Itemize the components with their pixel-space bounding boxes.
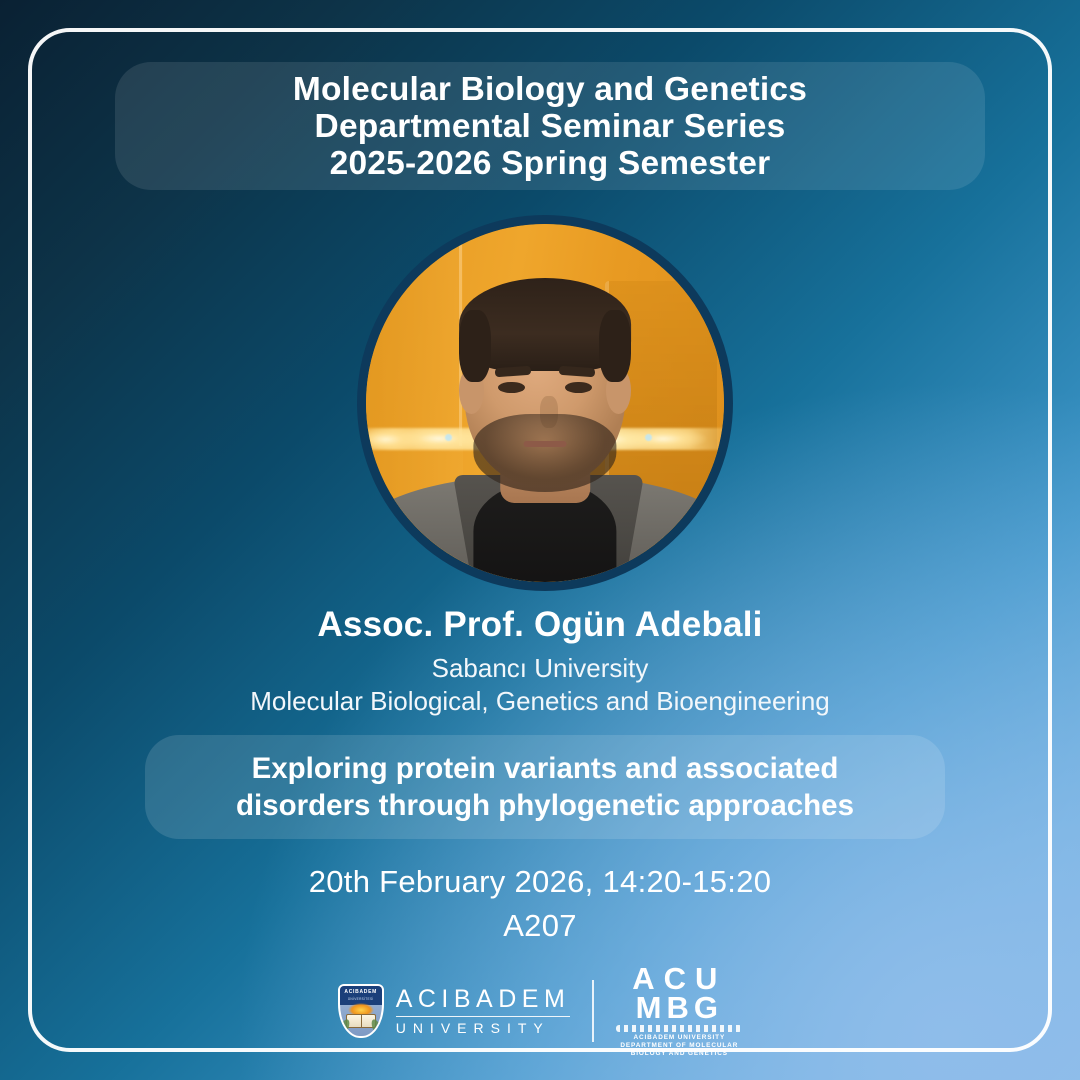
- talk-title-line-1: Exploring protein variants and associate…: [252, 750, 839, 787]
- logo-separator: [592, 980, 594, 1042]
- acibadem-crest-icon: ACIBADEM ÜNİVERSİTESİ: [338, 984, 384, 1038]
- acibadem-wordmark: ACIBADEM UNIVERSITY: [396, 986, 571, 1037]
- talk-title-line-2: disorders through phylogenetic approache…: [236, 787, 854, 824]
- portrait-photo: [366, 224, 724, 582]
- crest-subtitle: ÜNİVERSİTESİ: [340, 997, 382, 1001]
- talk-title-banner: Exploring protein variants and associate…: [145, 735, 945, 839]
- photo-light-dot: [445, 434, 452, 441]
- photo-beard: [473, 414, 616, 493]
- speaker-portrait: [357, 215, 733, 591]
- photo-eye-left: [498, 382, 525, 393]
- acibadem-divider-rule: [396, 1016, 571, 1018]
- shield-icon: ACIBADEM ÜNİVERSİTESİ: [338, 984, 384, 1038]
- schedule-block: 20th February 2026, 14:20-15:20 A207: [0, 860, 1080, 948]
- schedule-room: A207: [0, 904, 1080, 948]
- acu-mbg-logo: ACU MBG ACIBADEM UNIVERSITY DEPARTMENT O…: [616, 965, 742, 1058]
- speaker-affiliation-department: Molecular Biological, Genetics and Bioen…: [0, 685, 1080, 718]
- header-line-1: Molecular Biology and Genetics: [293, 71, 807, 108]
- photo-mouth: [524, 441, 567, 447]
- logo-bar: ACIBADEM ÜNİVERSİTESİ ACIBADEM UNIVERSIT…: [0, 966, 1080, 1056]
- seminar-poster: Molecular Biology and Genetics Departmen…: [0, 0, 1080, 1080]
- photo-eye-right: [565, 382, 592, 393]
- header-line-3: 2025-2026 Spring Semester: [330, 145, 771, 182]
- dna-strand-icon: [616, 1025, 742, 1032]
- photo-light-dot: [645, 434, 652, 441]
- acu-mbg-line-2: MBG: [636, 993, 723, 1023]
- header-banner: Molecular Biology and Genetics Departmen…: [115, 62, 985, 190]
- photo-hair-side-left: [459, 310, 491, 382]
- speaker-affiliation-university: Sabancı University: [0, 652, 1080, 685]
- speaker-block: Assoc. Prof. Ogün Adebali Sabancı Univer…: [0, 604, 1080, 718]
- schedule-datetime: 20th February 2026, 14:20-15:20: [0, 860, 1080, 904]
- acu-mbg-subtitle-3: BIOLOGY AND GENETICS: [631, 1050, 728, 1058]
- photo-hair-side-right: [599, 310, 631, 382]
- crest-title: ACIBADEM: [340, 989, 382, 995]
- acibadem-name: ACIBADEM: [396, 986, 571, 1012]
- acibadem-university-logo: ACIBADEM ÜNİVERSİTESİ ACIBADEM UNIVERSIT…: [338, 984, 571, 1038]
- acibadem-subtitle: UNIVERSITY: [396, 1021, 571, 1036]
- header-line-2: Departmental Seminar Series: [315, 108, 786, 145]
- acu-mbg-subtitle-1: ACIBADEM UNIVERSITY: [633, 1034, 725, 1042]
- speaker-name: Assoc. Prof. Ogün Adebali: [0, 604, 1080, 646]
- acu-mbg-subtitle-2: DEPARTMENT OF MOLECULAR: [620, 1042, 738, 1050]
- acu-mbg-line-1: ACU: [632, 965, 726, 993]
- laurel-leaf-right-icon: [370, 1018, 383, 1034]
